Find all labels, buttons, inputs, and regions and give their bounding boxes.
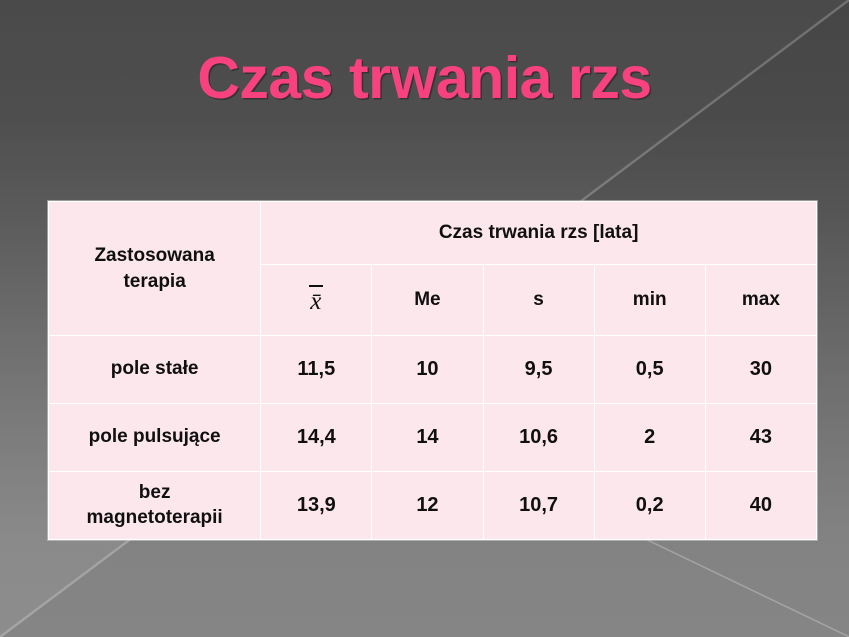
slide-canvas: Czas trwania rzs Zastosowanaterapia Czas… (0, 0, 849, 637)
table-body: pole stałe 11,5 10 9,5 0,5 30 pole pulsu… (49, 336, 817, 540)
cell-pole-stale-mean: 11,5 (261, 336, 372, 404)
cell-pole-pulsujace-mean: 14,4 (261, 404, 372, 472)
column-header-sd: s (483, 265, 594, 336)
page-title: Czas trwania rzs (0, 44, 849, 112)
row-label-bez-magnetoterapii-line2: magnetoterapii (87, 507, 223, 528)
header-row-group: Zastosowanaterapia Czas trwania rzs [lat… (49, 202, 817, 265)
column-header-therapy: Zastosowanaterapia (49, 202, 261, 336)
table-row: bezmagnetoterapii 13,9 12 10,7 0,2 40 (49, 472, 817, 540)
cell-pole-stale-sd: 9,5 (483, 336, 594, 404)
table-row: pole stałe 11,5 10 9,5 0,5 30 (49, 336, 817, 404)
cell-pole-pulsujace-max: 43 (705, 404, 816, 472)
cell-pole-stale-max: 30 (705, 336, 816, 404)
column-header-therapy-line1: Zastosowana (94, 245, 214, 266)
table-row: pole pulsujące 14,4 14 10,6 2 43 (49, 404, 817, 472)
column-header-min: min (594, 265, 705, 336)
cell-bez-magnetoterapii-mean: 13,9 (261, 472, 372, 540)
cell-pole-pulsujace-median: 14 (372, 404, 483, 472)
column-header-therapy-line2: terapia (123, 271, 185, 292)
cell-pole-stale-min: 0,5 (594, 336, 705, 404)
cell-pole-pulsujace-sd: 10,6 (483, 404, 594, 472)
cell-pole-pulsujace-min: 2 (594, 404, 705, 472)
column-header-mean: x̄ (261, 265, 372, 336)
row-label-bez-magnetoterapii-line1: bez (139, 482, 171, 503)
table-header: Zastosowanaterapia Czas trwania rzs [lat… (49, 202, 817, 336)
cell-bez-magnetoterapii-sd: 10,7 (483, 472, 594, 540)
statistics-table: Zastosowanaterapia Czas trwania rzs [lat… (48, 201, 817, 540)
column-header-max: max (705, 265, 816, 336)
row-label-bez-magnetoterapii: bezmagnetoterapii (49, 472, 261, 540)
column-group-header-duration: Czas trwania rzs [lata] (261, 202, 817, 265)
x-bar-symbol: x̄ (309, 285, 323, 314)
cell-bez-magnetoterapii-max: 40 (705, 472, 816, 540)
row-label-pole-stale: pole stałe (49, 336, 261, 404)
cell-bez-magnetoterapii-min: 0,2 (594, 472, 705, 540)
cell-bez-magnetoterapii-median: 12 (372, 472, 483, 540)
row-label-pole-pulsujace: pole pulsujące (49, 404, 261, 472)
column-header-median: Me (372, 265, 483, 336)
cell-pole-stale-median: 10 (372, 336, 483, 404)
